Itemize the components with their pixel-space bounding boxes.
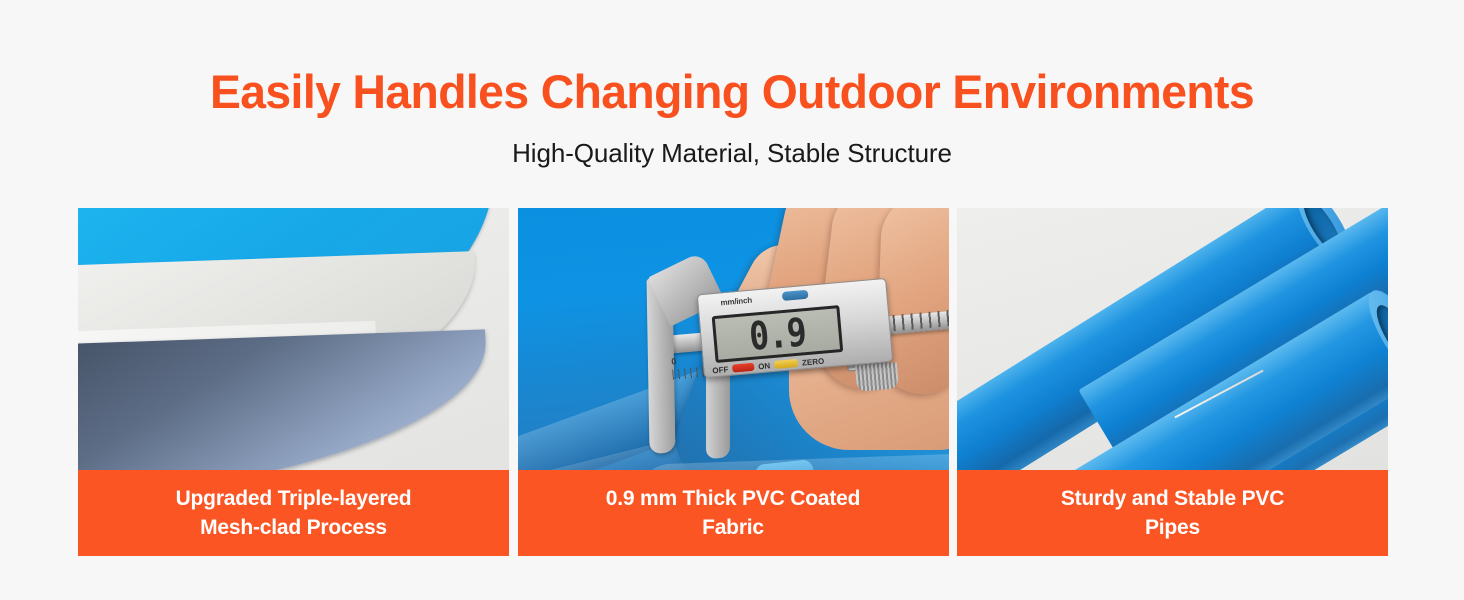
page-title: Easily Handles Changing Outdoor Environm… [11,62,1453,122]
caption-line-1: Upgraded Triple-layered [176,487,412,510]
caption-line-1: Sturdy and Stable PVC [1061,487,1284,510]
feature-card-caption: 0.9 mm Thick PVC Coated Fabric [518,470,949,556]
caliper-display-body: mm/inch 0.9 OFF ON ZERO [696,278,893,378]
feature-card-row: Upgraded Triple-layered Mesh-clad Proces… [78,208,1388,556]
caliper-knurled-wheel [854,362,898,392]
caliper-measurement-image: 0 mm/inch 0.9 OFF ON [518,208,949,470]
caliper-zero-label: ZERO [801,356,824,367]
caption-line-1: 0.9 mm Thick PVC Coated [606,487,860,510]
page-subtitle: High-Quality Material, Stable Structure [0,135,1464,171]
feature-card-caption: Upgraded Triple-layered Mesh-clad Proces… [78,470,509,556]
promo-banner: Easily Handles Changing Outdoor Environm… [0,0,1464,600]
caliper-off-label: OFF [711,364,728,374]
feature-card-pvc-pipes: Sturdy and Stable PVC Pipes [957,208,1388,556]
caliper-unit-button[interactable] [781,290,808,301]
caliper-on-label: ON [757,361,770,371]
caliper-reading-value: 0.9 [747,309,807,360]
digital-caliper: 0 mm/inch 0.9 OFF ON [648,268,949,453]
caption-line-2: Fabric [702,516,764,539]
feature-card-pvc-fabric: 0 mm/inch 0.9 OFF ON [518,208,949,556]
caliper-zero-button[interactable] [773,359,798,369]
caption-line-2: Pipes [1145,516,1200,539]
fabric-layers-image [78,208,509,470]
feature-card-caption: Sturdy and Stable PVC Pipes [957,470,1388,556]
caliper-scale-zero: 0 [670,356,676,366]
pvc-pipes-image [957,208,1388,470]
caliper-power-button[interactable] [731,363,754,373]
caliper-unit-label: mm/inch [720,296,752,308]
feature-card-fabric-layers: Upgraded Triple-layered Mesh-clad Proces… [78,208,509,556]
caption-line-2: Mesh-clad Process [200,516,387,539]
